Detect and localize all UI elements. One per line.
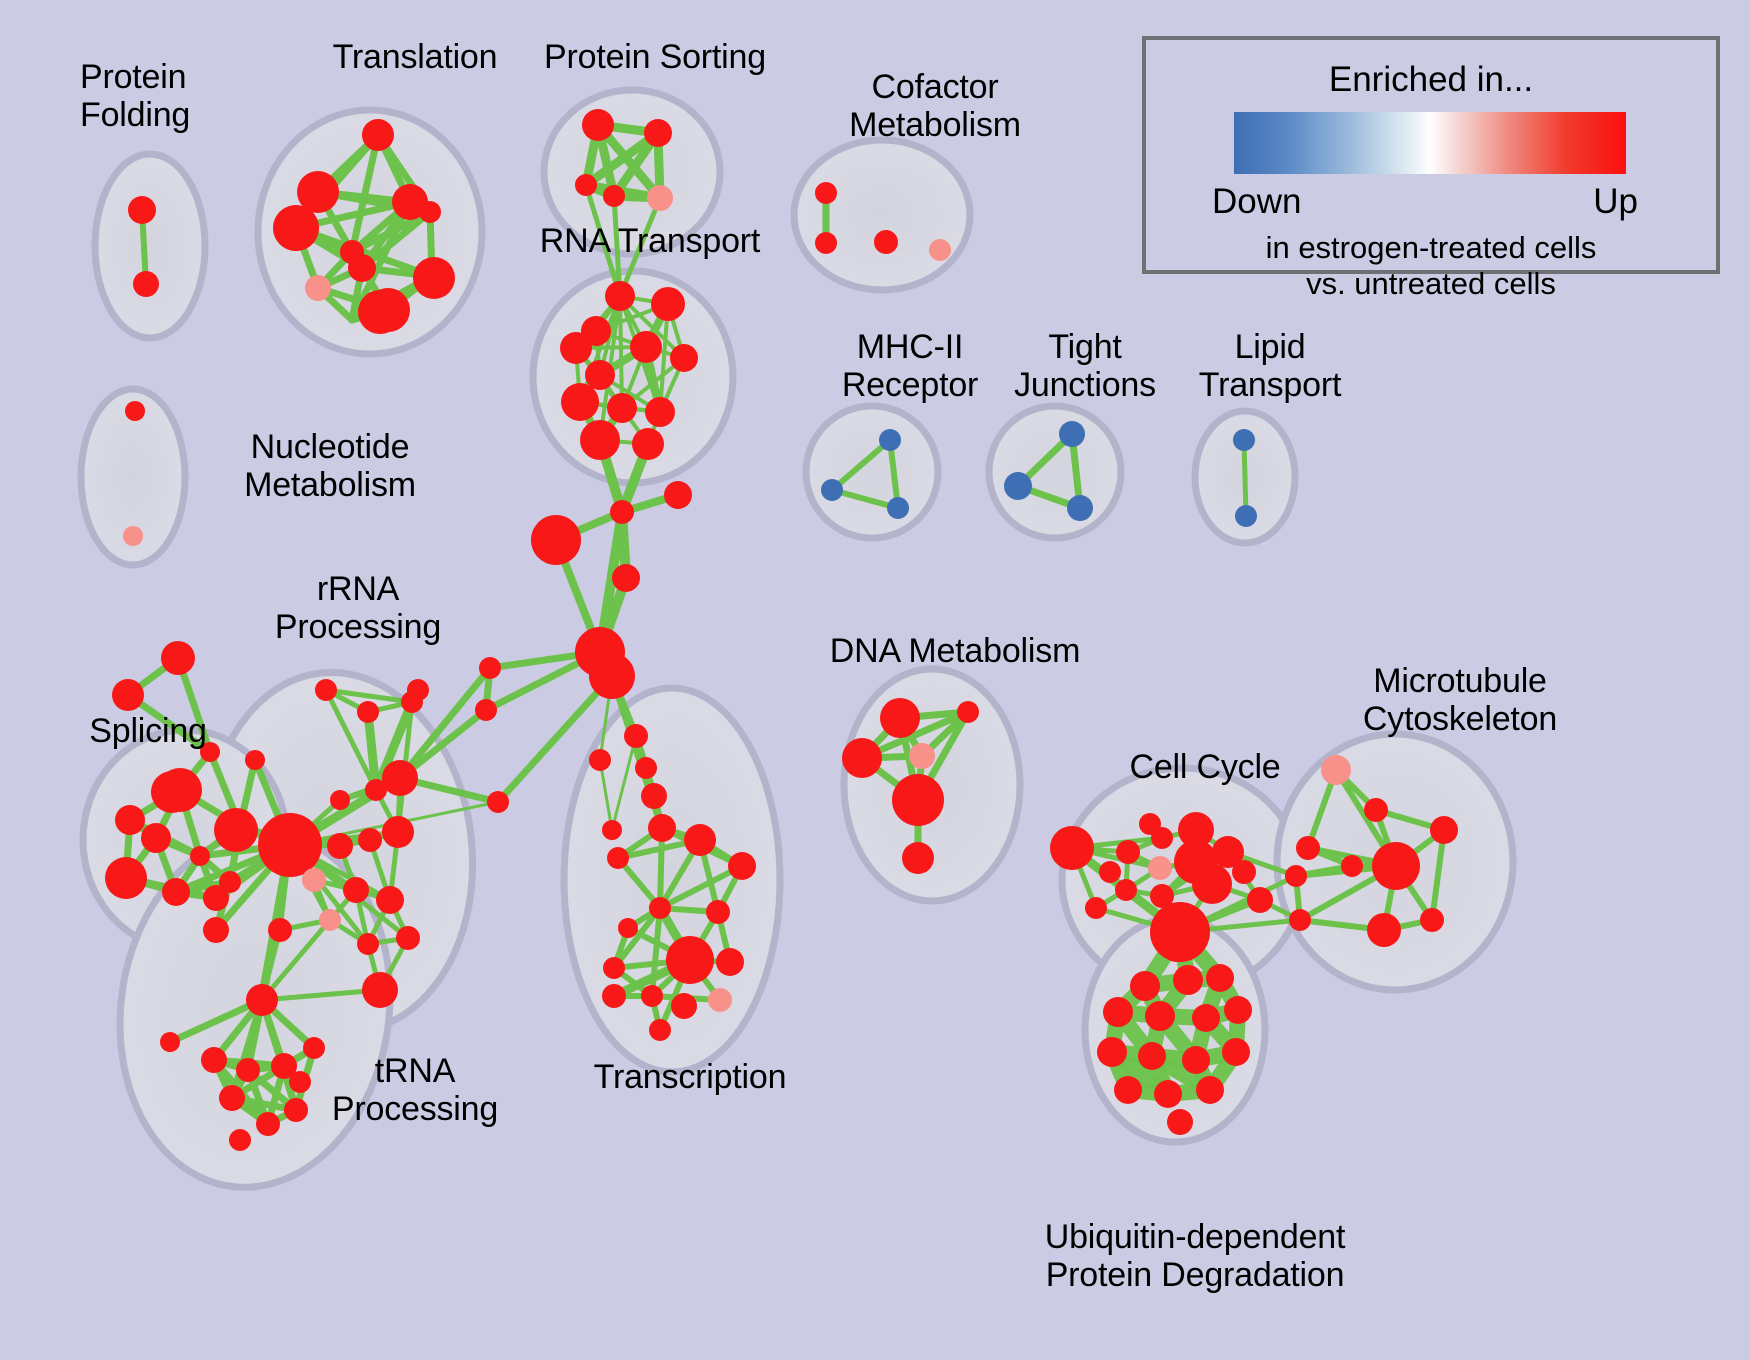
legend-subtitle-line1: in estrogen-treated cells (1146, 230, 1716, 266)
cluster-label-lipid-transport: Lipid Transport (1150, 328, 1390, 404)
cluster-label-translation: Translation (290, 38, 540, 76)
legend-subtitle-line2: vs. untreated cells (1146, 266, 1716, 302)
legend-up-label: Up (1593, 182, 1638, 222)
hull-protein-folding (95, 154, 205, 338)
hull-tight-junctions (989, 406, 1121, 538)
cluster-label-protein-folding: Protein Folding (80, 58, 270, 134)
cluster-label-nucleotide-metabolism: Nucleotide Metabolism (190, 428, 470, 504)
legend-panel: Enriched in... Down Up in estrogen-treat… (1142, 36, 1720, 274)
cluster-label-transcription: Transcription (540, 1058, 840, 1096)
legend-down-label: Down (1212, 182, 1301, 222)
legend-color-gradient-bar (1234, 112, 1626, 174)
hull-mhc-ii-receptor (806, 406, 938, 538)
cluster-label-ubiquitin-degradation: Ubiquitin-dependent Protein Degradation (970, 1218, 1420, 1294)
legend-title: Enriched in... (1146, 60, 1716, 100)
hull-cofactor-metabolism (794, 140, 970, 290)
cluster-label-cofactor-metabolism: Cofactor Metabolism (790, 68, 1080, 144)
cluster-label-dna-metabolism: DNA Metabolism (790, 632, 1120, 670)
cluster-label-microtubule-cytoskeleton: Microtubule Cytoskeleton (1290, 662, 1630, 738)
cluster-label-protein-sorting: Protein Sorting (505, 38, 805, 76)
cluster-label-splicing: Splicing (48, 712, 248, 750)
cluster-label-rrna-processing: rRNA Processing (228, 570, 488, 646)
cluster-label-cell-cycle: Cell Cycle (1075, 748, 1335, 786)
hull-transcription (564, 688, 780, 1072)
enrichment-map-figure: Protein Folding Translation Protein Sort… (0, 0, 1750, 1360)
cluster-label-trna-processing: tRNA Processing (280, 1052, 550, 1128)
cluster-label-rna-transport: RNA Transport (500, 222, 800, 260)
